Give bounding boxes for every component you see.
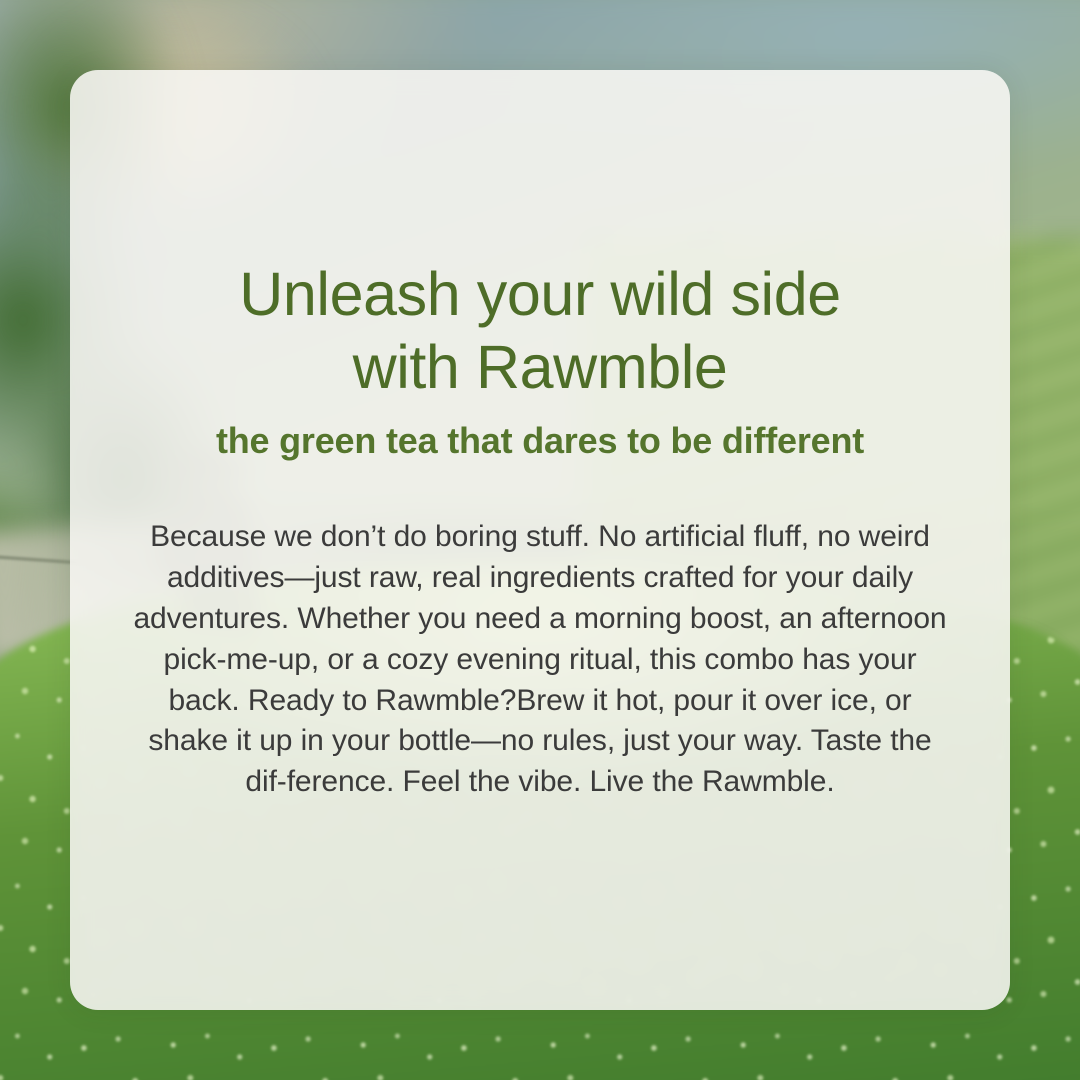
- page-title: Unleash your wild side with Rawmble: [126, 258, 954, 404]
- page-subtitle: the green tea that dares to be different: [126, 418, 954, 463]
- body-paragraph: Because we don’t do boring stuff. No art…: [126, 517, 954, 803]
- card-content: Unleash your wild side with Rawmble the …: [70, 258, 1010, 803]
- promo-card: Unleash your wild side with Rawmble the …: [70, 70, 1010, 1010]
